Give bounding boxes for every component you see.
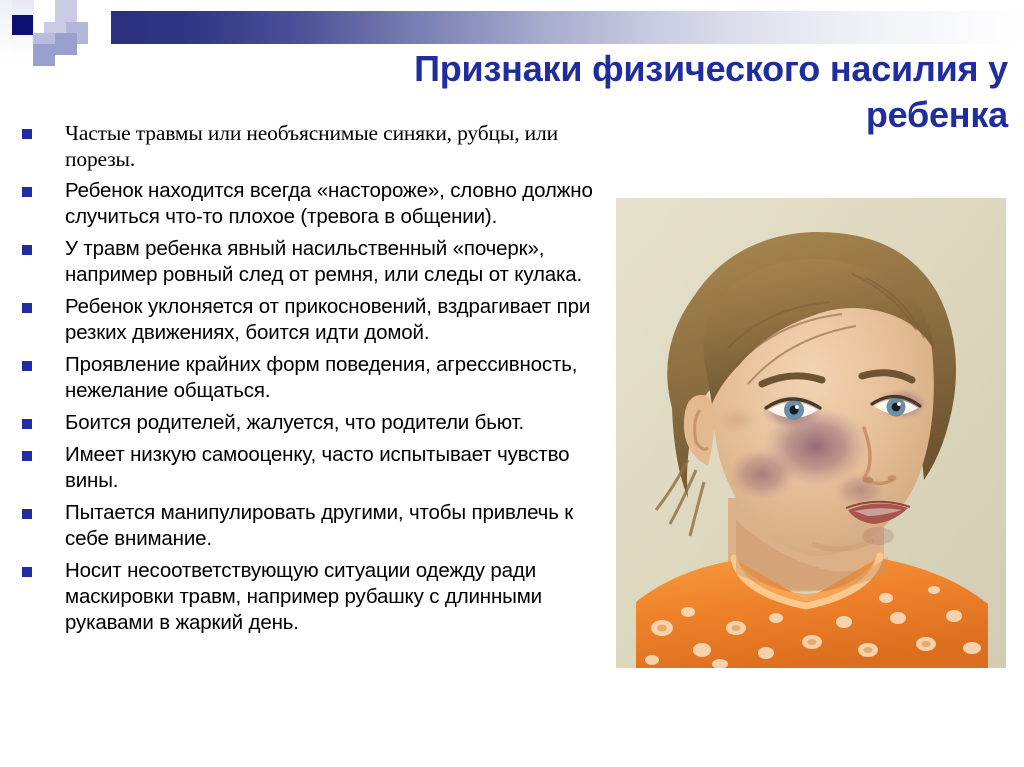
deco-square-light-top <box>55 0 77 22</box>
bullet-square-icon <box>22 361 32 371</box>
list-item-text: Боится родителей, жалуется, что родители… <box>32 410 602 436</box>
list-item: Частые травмы или необъяснимые синяки, р… <box>22 120 602 172</box>
bullet-square-icon <box>22 245 32 255</box>
list-item-text: Проявление крайних форм поведения, агрес… <box>32 352 602 404</box>
deco-square-mid-right <box>55 33 77 55</box>
list-item-text: Имеет низкую самооценку, часто испытывае… <box>32 442 602 494</box>
list-item: Носит несоответствующую ситуации одежду … <box>22 558 602 636</box>
deco-square-dark-navy <box>11 15 33 35</box>
bullet-square-icon <box>22 451 32 461</box>
list-item-text: Ребенок уклоняется от прикосновений, взд… <box>32 294 602 346</box>
deco-square-wash-column <box>0 0 12 60</box>
child-photo-illustration <box>616 198 1006 668</box>
bullet-square-icon <box>22 419 32 429</box>
bullet-square-icon <box>22 567 32 577</box>
bullet-square-icon <box>22 187 32 197</box>
bullet-square-icon <box>22 509 32 519</box>
list-item-text: Частые травмы или необъяснимые синяки, р… <box>32 120 602 172</box>
list-item: Имеет низкую самооценку, часто испытывае… <box>22 442 602 494</box>
deco-square-mid-bottom <box>33 44 55 66</box>
list-item: Пытается манипулировать другими, чтобы п… <box>22 500 602 552</box>
list-item-text: Носит несоответствующую ситуации одежду … <box>32 558 602 636</box>
bullet-list: Частые травмы или необъяснимые синяки, р… <box>22 120 602 642</box>
list-item: У травм ребенка явный насильственный «по… <box>22 236 602 288</box>
bullet-square-icon <box>22 129 32 139</box>
child-photo <box>616 198 1006 668</box>
list-item: Ребенок уклоняется от прикосновений, взд… <box>22 294 602 346</box>
list-item: Боится родителей, жалуется, что родители… <box>22 410 602 436</box>
list-item-text: У травм ребенка явный насильственный «по… <box>32 236 602 288</box>
header-gradient-bar <box>111 11 1024 44</box>
page-title-line-1: Признаки физического насилия у <box>190 46 1008 92</box>
bullet-square-icon <box>22 303 32 313</box>
list-item: Проявление крайних форм поведения, агрес… <box>22 352 602 404</box>
list-item: Ребенок находится всегда «настороже», сл… <box>22 178 602 230</box>
list-item-text: Пытается манипулировать другими, чтобы п… <box>32 500 602 552</box>
list-item-text: Ребенок находится всегда «настороже», сл… <box>32 178 602 230</box>
